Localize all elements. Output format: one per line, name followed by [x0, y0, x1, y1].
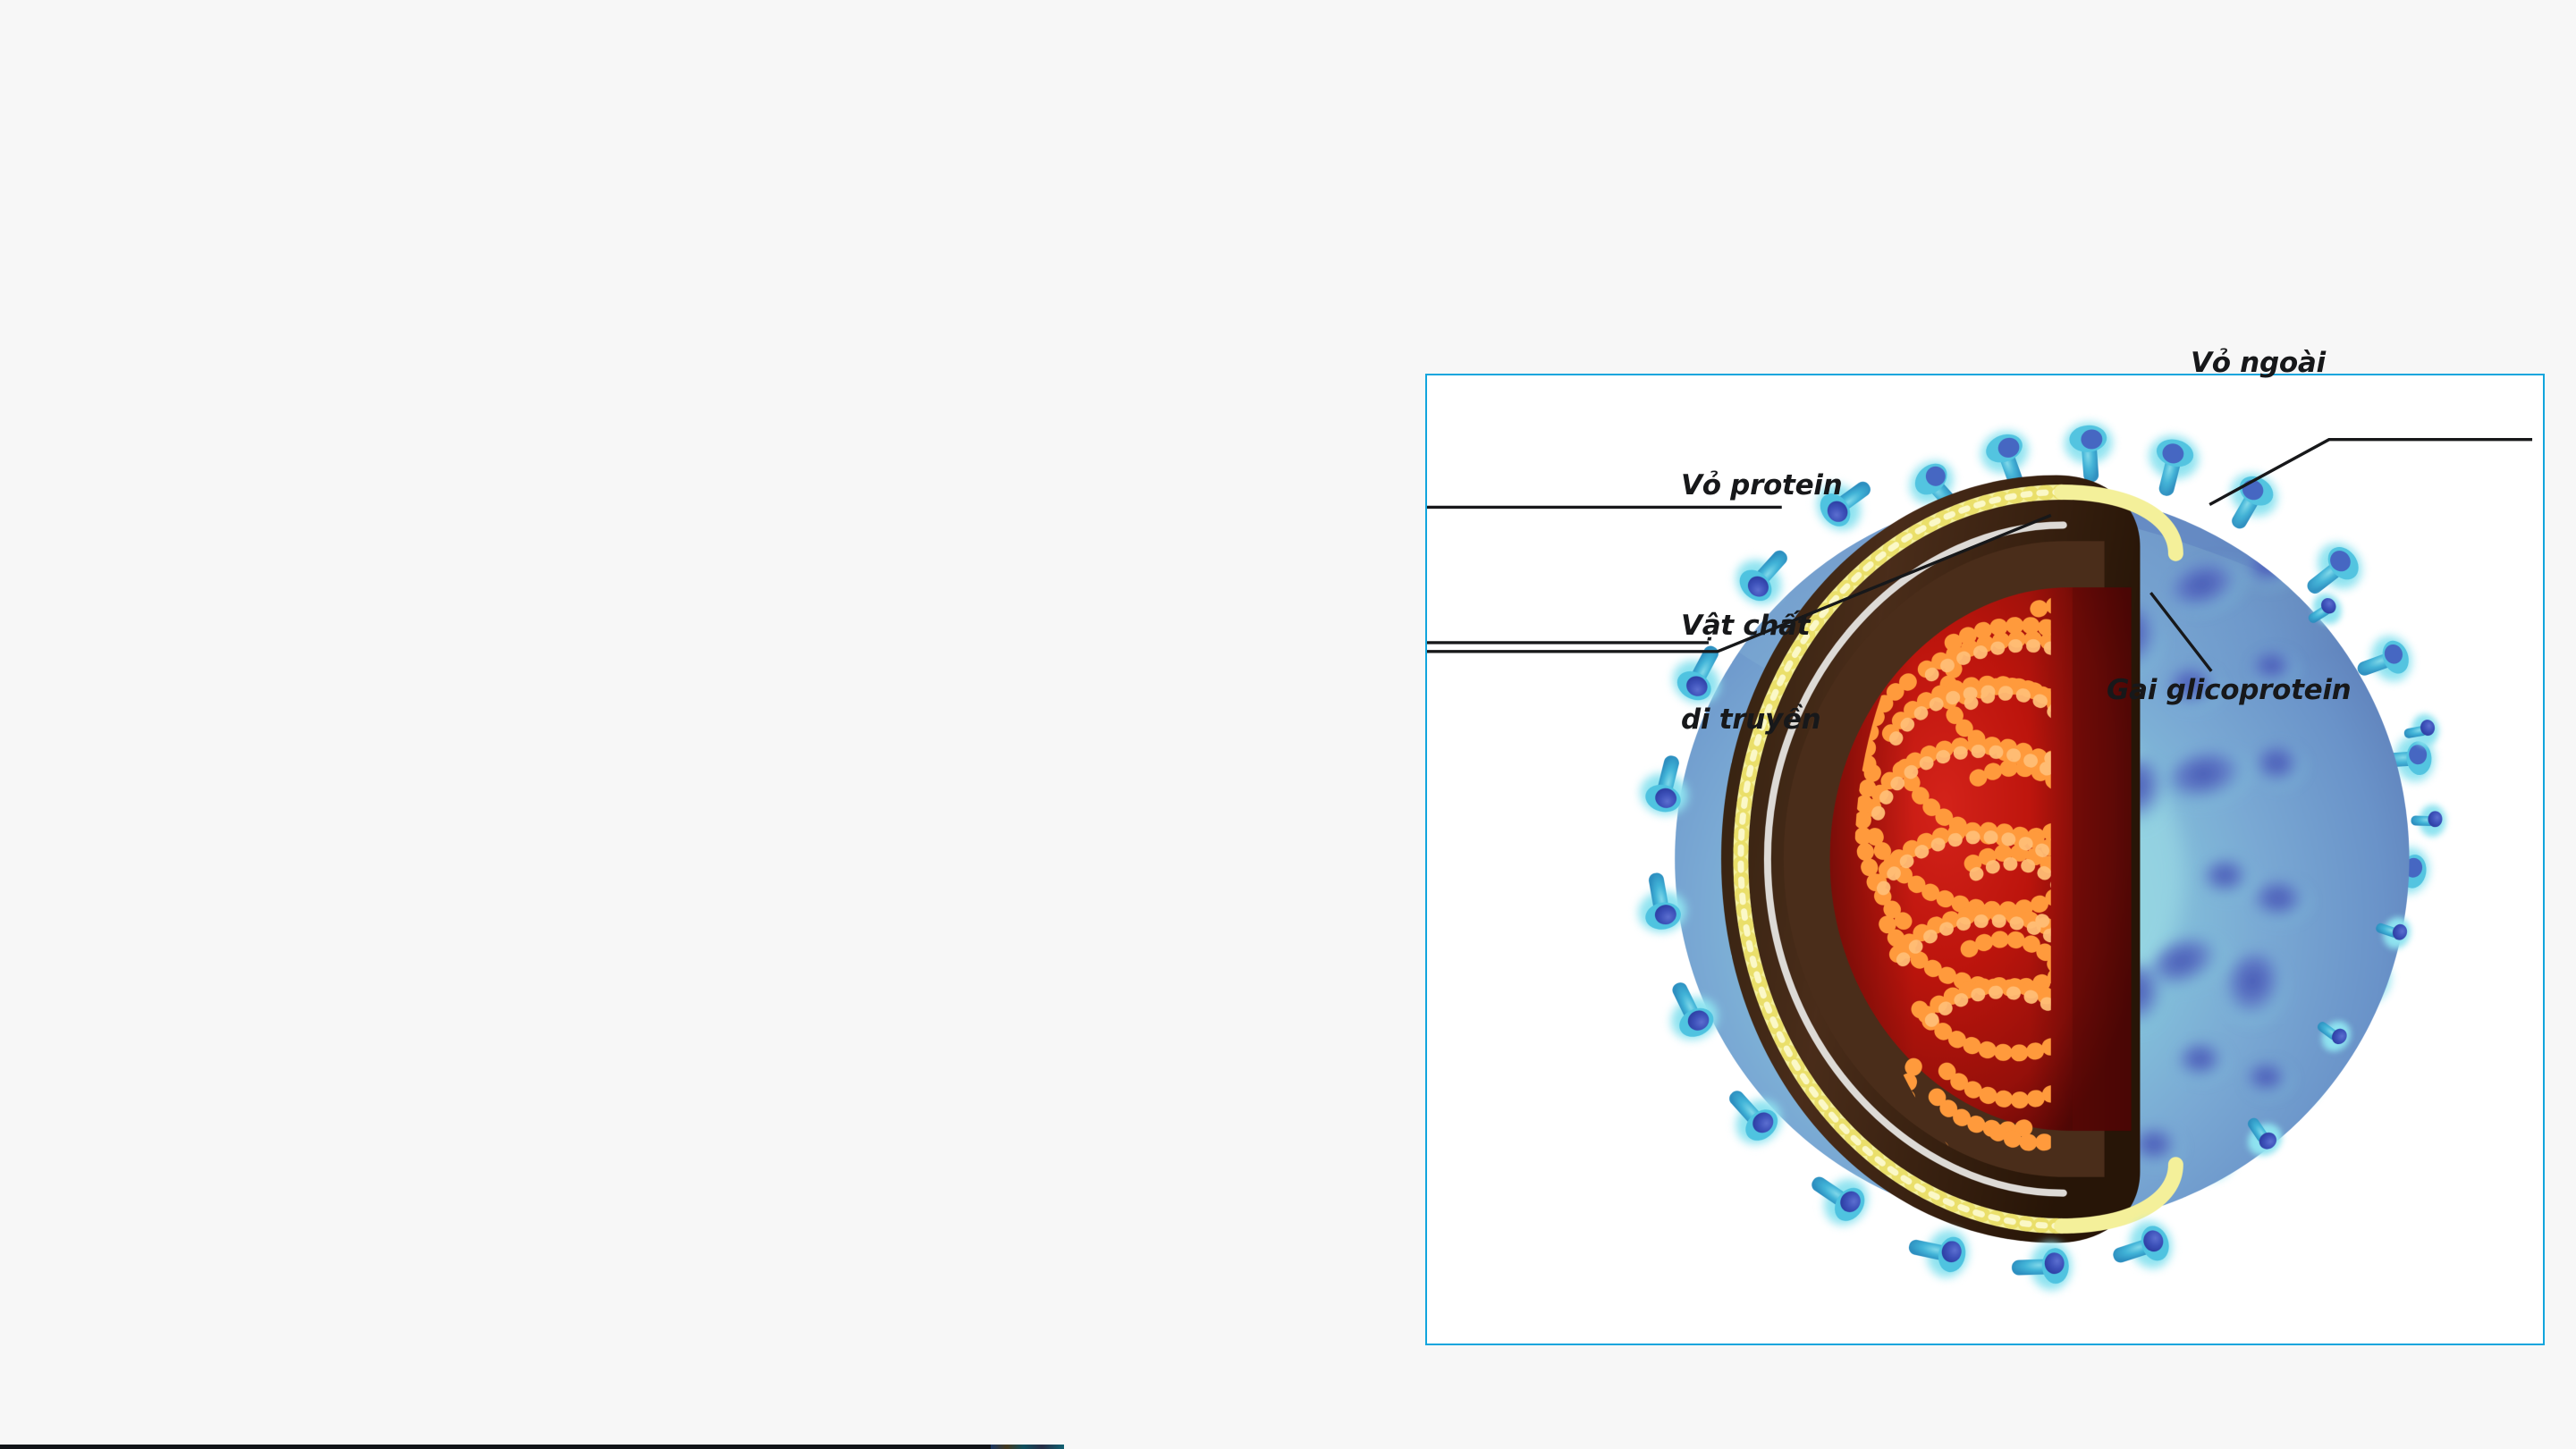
label-gai-glicoprotein: Gai glicoprotein [2107, 675, 2351, 706]
label-vat-chat-di-truyen: Vật chất di truyền [1681, 549, 1820, 797]
label-vo-ngoai: Vỏ ngoài [2191, 348, 2326, 379]
label-vat-chat-line2: di truyền [1681, 704, 1820, 736]
virus-diagram-frame: Vỏ protein Vật chất di truyền Vỏ ngoài G… [1425, 374, 2545, 1345]
label-vo-protein: Vỏ protein [1681, 470, 1842, 501]
label-vat-chat-line1: Vật chất [1681, 611, 1820, 642]
virus-diagram-illustration [1427, 375, 2543, 1344]
cut-off-content-strip [0, 1445, 1064, 1449]
cut-off-content-strip-tail [991, 1445, 1064, 1449]
